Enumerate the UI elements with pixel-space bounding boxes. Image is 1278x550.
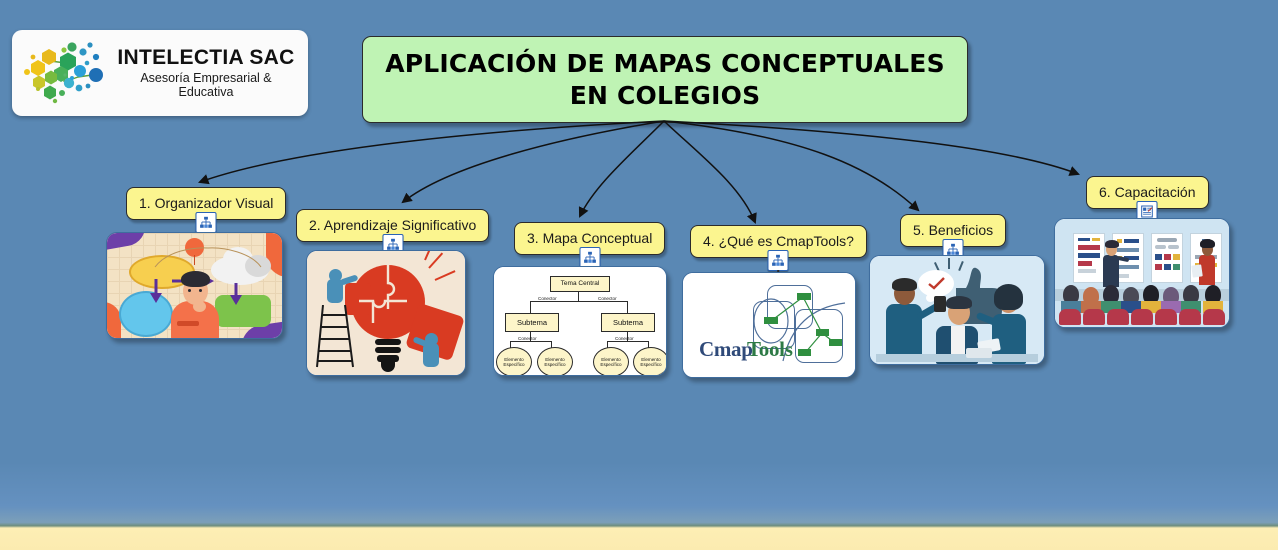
node-label-3-text: 3. Mapa Conceptual	[527, 230, 652, 246]
node-label-6-text: 6. Capacitación	[1099, 184, 1196, 200]
node-label-1[interactable]: 1. Organizador Visual	[126, 187, 286, 220]
mini-map-connector-l2: Conector	[518, 336, 537, 341]
mini-map-leaf-4: Elemento Específico	[633, 347, 667, 376]
hierarchy-icon[interactable]	[196, 212, 217, 233]
arrow-to-node-1	[200, 121, 664, 182]
company-name: INTELECTIA SAC	[112, 47, 300, 69]
main-title-banner: APLICACIÓN DE MAPAS CONCEPTUALES EN COLE…	[362, 36, 968, 123]
node-label-5[interactable]: 5. Beneficios	[900, 214, 1006, 247]
arrow-to-node-5	[664, 121, 918, 210]
card-image-4[interactable]: Cmap Tools	[682, 272, 856, 378]
node-mapa-conceptual[interactable]: 3. Mapa Conceptual	[514, 222, 665, 255]
mini-map-subtopic-1: Subtema	[505, 313, 559, 332]
page-title-line1: APLICACIÓN DE MAPAS CONCEPTUALES	[385, 49, 945, 78]
card-image-2[interactable]	[306, 250, 466, 376]
page-title-line2: EN COLEGIOS	[570, 81, 761, 110]
card-image-3[interactable]: Tema Central Conector Conector Subtema S…	[493, 266, 667, 376]
slide-canvas: INTELECTIA SAC Asesoría Empresarial & Ed…	[0, 0, 1278, 550]
node-label-1-text: 1. Organizador Visual	[139, 195, 273, 211]
node-label-5-text: 5. Beneficios	[913, 222, 993, 238]
page-title: APLICACIÓN DE MAPAS CONCEPTUALES EN COLE…	[385, 48, 945, 112]
node-label-2-text: 2. Aprendizaje Significativo	[309, 217, 476, 233]
card-image-6[interactable]	[1054, 218, 1230, 328]
mini-map-connector-left: Conector	[538, 296, 557, 301]
mini-map-leaf-3: Elemento Específico	[593, 347, 629, 376]
node-capacitacion[interactable]: 6. Capacitación	[1086, 176, 1209, 209]
hierarchy-icon[interactable]	[579, 247, 600, 268]
mini-map-connector-right: Conector	[598, 296, 617, 301]
node-label-3[interactable]: 3. Mapa Conceptual	[514, 222, 665, 255]
mini-map-leaf-1: Elemento Específico	[496, 347, 532, 376]
node-label-6[interactable]: 6. Capacitación	[1086, 176, 1209, 209]
company-logo-plate: INTELECTIA SAC Asesoría Empresarial & Ed…	[12, 30, 308, 116]
logo-text-block: INTELECTIA SAC Asesoría Empresarial & Ed…	[112, 47, 308, 100]
arrow-to-node-6	[664, 121, 1078, 174]
cmaptools-word-tools: Tools	[747, 337, 793, 362]
hierarchy-icon[interactable]	[768, 250, 789, 271]
mini-map-subtopic-2: Subtema	[601, 313, 655, 332]
node-aprendizaje-significativo[interactable]: 2. Aprendizaje Significativo	[296, 209, 489, 242]
cmaptools-word-cmap: Cmap	[699, 337, 753, 362]
company-tagline: Asesoría Empresarial & Educativa	[112, 72, 300, 100]
brain-network-icon	[20, 37, 112, 109]
card-image-1[interactable]	[106, 232, 283, 339]
node-beneficios[interactable]: 5. Beneficios	[900, 214, 1006, 247]
mini-map-connector-r2: Conector	[615, 336, 634, 341]
arrow-to-node-3	[580, 121, 664, 216]
mini-map-leaf-2: Elemento Específico	[537, 347, 573, 376]
arrow-to-node-2	[403, 121, 664, 202]
node-que-es-cmaptools[interactable]: 4. ¿Qué es CmapTools?	[690, 225, 867, 258]
node-label-2[interactable]: 2. Aprendizaje Significativo	[296, 209, 489, 242]
node-label-4[interactable]: 4. ¿Qué es CmapTools?	[690, 225, 867, 258]
mini-map-root: Tema Central	[550, 276, 610, 292]
arrow-to-node-4	[664, 121, 755, 222]
node-organizador-visual[interactable]: 1. Organizador Visual	[126, 187, 286, 220]
node-label-4-text: 4. ¿Qué es CmapTools?	[703, 233, 854, 249]
card-image-5[interactable]	[869, 255, 1045, 365]
